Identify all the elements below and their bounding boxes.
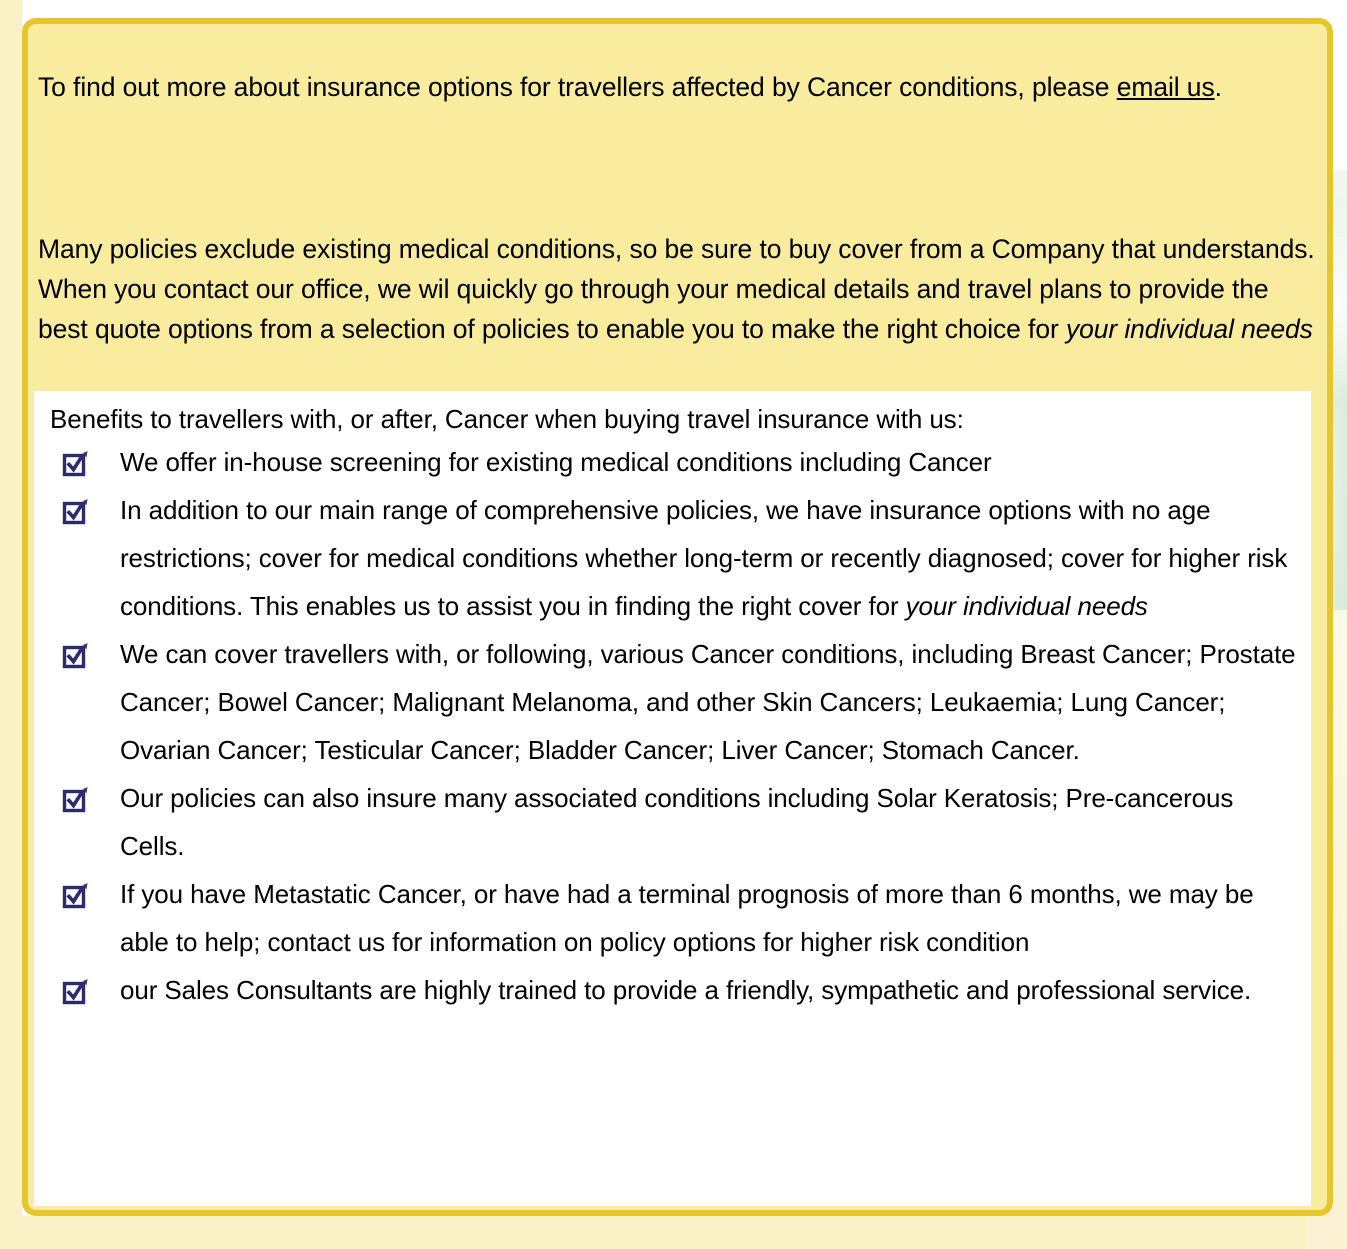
list-item-text: If you have Metastatic Cancer, or have h… xyxy=(120,879,1254,957)
page-top-margin xyxy=(0,0,1305,18)
intro-paragraph-contact-text: To find out more about insurance options… xyxy=(38,72,1117,102)
intro-paragraph-policies-emphasis: your individual needs xyxy=(1066,314,1313,344)
list-item: In addition to our main range of compreh… xyxy=(48,486,1299,630)
checked-checkbox-icon xyxy=(62,447,92,477)
list-item-text: Our policies can also insure many associ… xyxy=(120,783,1233,861)
list-item-emphasis: your individual needs xyxy=(906,591,1148,621)
benefits-list: We offer in-house screening for existing… xyxy=(48,438,1299,1014)
checked-checkbox-icon xyxy=(62,639,92,669)
list-item-text: We offer in-house screening for existing… xyxy=(120,447,992,477)
list-item: our Sales Consultants are highly trained… xyxy=(48,966,1299,1014)
list-item: If you have Metastatic Cancer, or have h… xyxy=(48,870,1299,966)
benefits-heading: Benefits to travellers with, or after, C… xyxy=(50,401,1299,438)
list-item: We can cover travellers with, or followi… xyxy=(48,630,1299,774)
checked-checkbox-icon xyxy=(62,879,92,909)
intro-paragraph-contact-period: . xyxy=(1215,72,1222,102)
intro-paragraph-policies: Many policies exclude existing medical c… xyxy=(38,229,1317,349)
page-left-margin xyxy=(0,0,22,1249)
intro-paragraph-contact: To find out more about insurance options… xyxy=(38,67,1317,107)
list-item-text: We can cover travellers with, or followi… xyxy=(120,639,1296,765)
checked-checkbox-icon xyxy=(62,783,92,813)
checked-checkbox-icon xyxy=(62,975,92,1005)
info-panel: To find out more about insurance options… xyxy=(22,18,1333,1216)
list-item-text: our Sales Consultants are highly trained… xyxy=(120,975,1251,1005)
benefits-box: Benefits to travellers with, or after, C… xyxy=(34,391,1311,1206)
page-bottom-margin xyxy=(0,1216,1305,1249)
list-item: We offer in-house screening for existing… xyxy=(48,438,1299,486)
list-item: Our policies can also insure many associ… xyxy=(48,774,1299,870)
email-us-link[interactable]: email us xyxy=(1117,72,1215,102)
checked-checkbox-icon xyxy=(62,495,92,525)
